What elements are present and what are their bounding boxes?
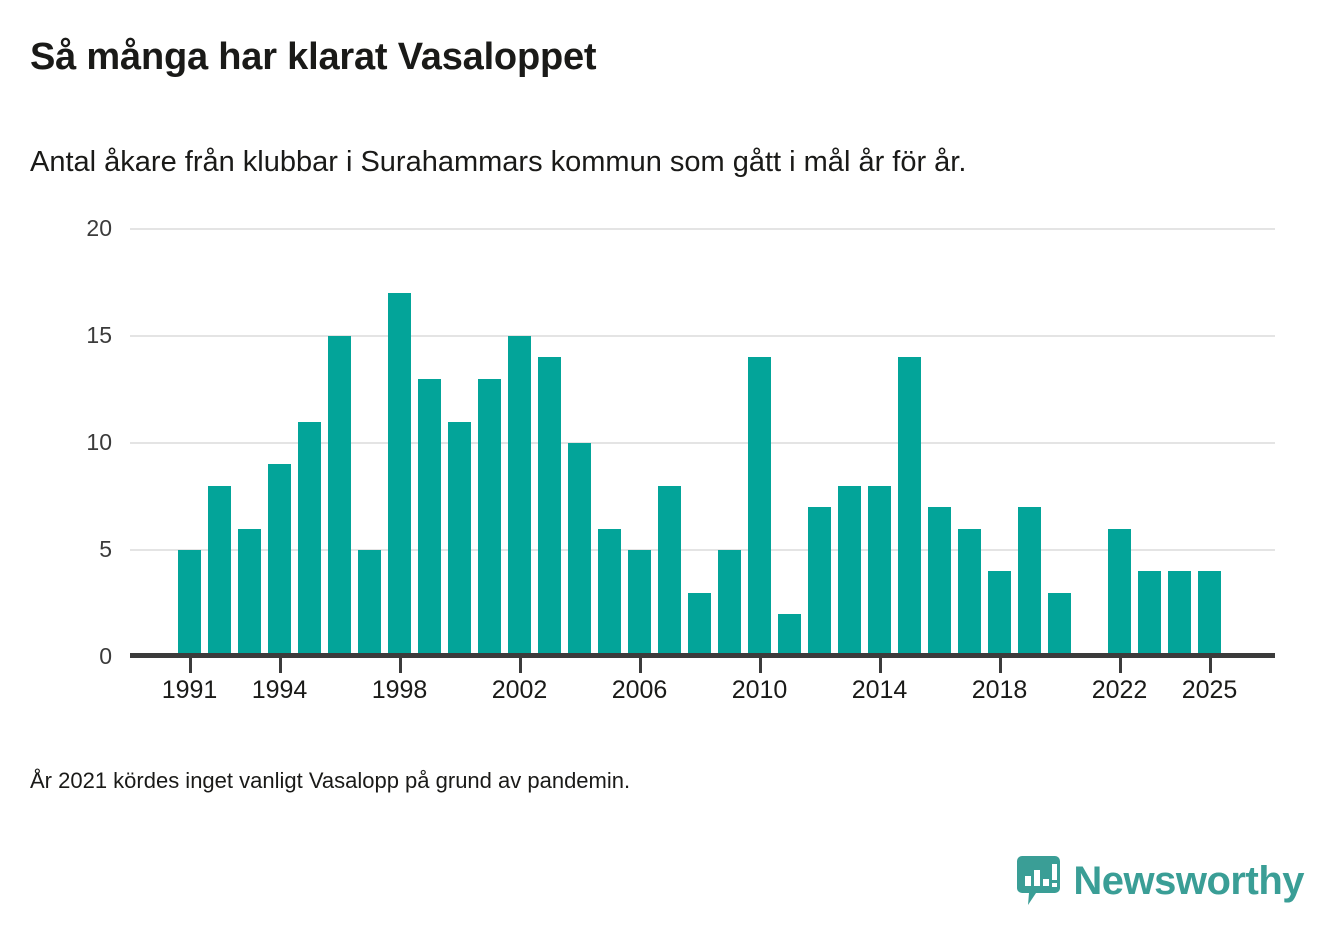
bar-2023[interactable] (1138, 571, 1161, 657)
bar-2022[interactable] (1108, 529, 1131, 657)
bar-2008[interactable] (688, 593, 711, 657)
x-axis-tick (1209, 658, 1212, 673)
bar-2007[interactable] (658, 486, 681, 657)
x-axis-tick-label: 2002 (475, 676, 565, 705)
bars-container (130, 229, 1275, 657)
bar-2017[interactable] (958, 529, 981, 657)
bar-1993[interactable] (238, 529, 261, 657)
bar-2006[interactable] (628, 550, 651, 657)
bar-2018[interactable] (988, 571, 1011, 657)
bar-1994[interactable] (268, 464, 291, 657)
y-axis-tick-label: 20 (52, 217, 112, 240)
bar-2013[interactable] (838, 486, 861, 657)
x-axis-tick-label: 2018 (955, 676, 1045, 705)
bar-2014[interactable] (868, 486, 891, 657)
bar-2004[interactable] (568, 443, 591, 657)
bar-2025[interactable] (1198, 571, 1221, 657)
x-axis-tick (519, 658, 522, 673)
bar-chart: 05101520 1991199419982002200620102014201… (0, 210, 1340, 730)
bar-2002[interactable] (508, 336, 531, 657)
bar-1997[interactable] (358, 550, 381, 657)
y-axis-tick-label: 15 (52, 324, 112, 347)
bar-2011[interactable] (778, 614, 801, 657)
x-axis-tick (999, 658, 1002, 673)
x-axis-tick-label: 2025 (1165, 676, 1255, 705)
page-subtitle: Antal åkare från klubbar i Surahammars k… (30, 146, 966, 179)
x-axis-tick-label: 2014 (835, 676, 925, 705)
x-axis-tick-label: 2006 (595, 676, 685, 705)
bar-2005[interactable] (598, 529, 621, 657)
chart-bubble-icon (1016, 855, 1061, 907)
bar-2000[interactable] (448, 422, 471, 657)
x-axis-tick (639, 658, 642, 673)
y-axis-tick-label: 0 (52, 645, 112, 668)
x-axis-tick-label: 2010 (715, 676, 805, 705)
page-title: Så många har klarat Vasaloppet (30, 36, 596, 79)
chart-page: Så många har klarat Vasaloppet Antal åka… (0, 0, 1340, 940)
bar-2019[interactable] (1018, 507, 1041, 657)
bar-2001[interactable] (478, 379, 501, 657)
brand-name: Newsworthy (1073, 861, 1304, 901)
x-axis-tick (1119, 658, 1122, 673)
y-axis-tick-label: 10 (52, 431, 112, 454)
bar-1998[interactable] (388, 293, 411, 657)
x-axis-tick (279, 658, 282, 673)
bar-2010[interactable] (748, 357, 771, 657)
bar-2016[interactable] (928, 507, 951, 657)
x-axis-tick-label: 1998 (355, 676, 445, 705)
bar-2009[interactable] (718, 550, 741, 657)
x-axis-tick (879, 658, 882, 673)
bar-2012[interactable] (808, 507, 831, 657)
bar-1999[interactable] (418, 379, 441, 657)
bar-1995[interactable] (298, 422, 321, 657)
bar-1992[interactable] (208, 486, 231, 657)
bar-2003[interactable] (538, 357, 561, 657)
y-axis-tick-label: 5 (52, 538, 112, 561)
bar-2024[interactable] (1168, 571, 1191, 657)
x-axis-tick-label: 1991 (145, 676, 235, 705)
x-axis-tick (189, 658, 192, 673)
newsworthy-logo[interactable]: Newsworthy (1016, 855, 1304, 907)
bar-2020[interactable] (1048, 593, 1071, 657)
x-axis-tick (399, 658, 402, 673)
bar-1996[interactable] (328, 336, 351, 657)
x-axis-tick-label: 1994 (235, 676, 325, 705)
bar-1991[interactable] (178, 550, 201, 657)
x-axis-tick (759, 658, 762, 673)
x-axis-tick-label: 2022 (1075, 676, 1165, 705)
bar-2015[interactable] (898, 357, 921, 657)
chart-footnote: År 2021 kördes inget vanligt Vasalopp på… (30, 768, 630, 794)
x-axis-line (130, 653, 1275, 658)
